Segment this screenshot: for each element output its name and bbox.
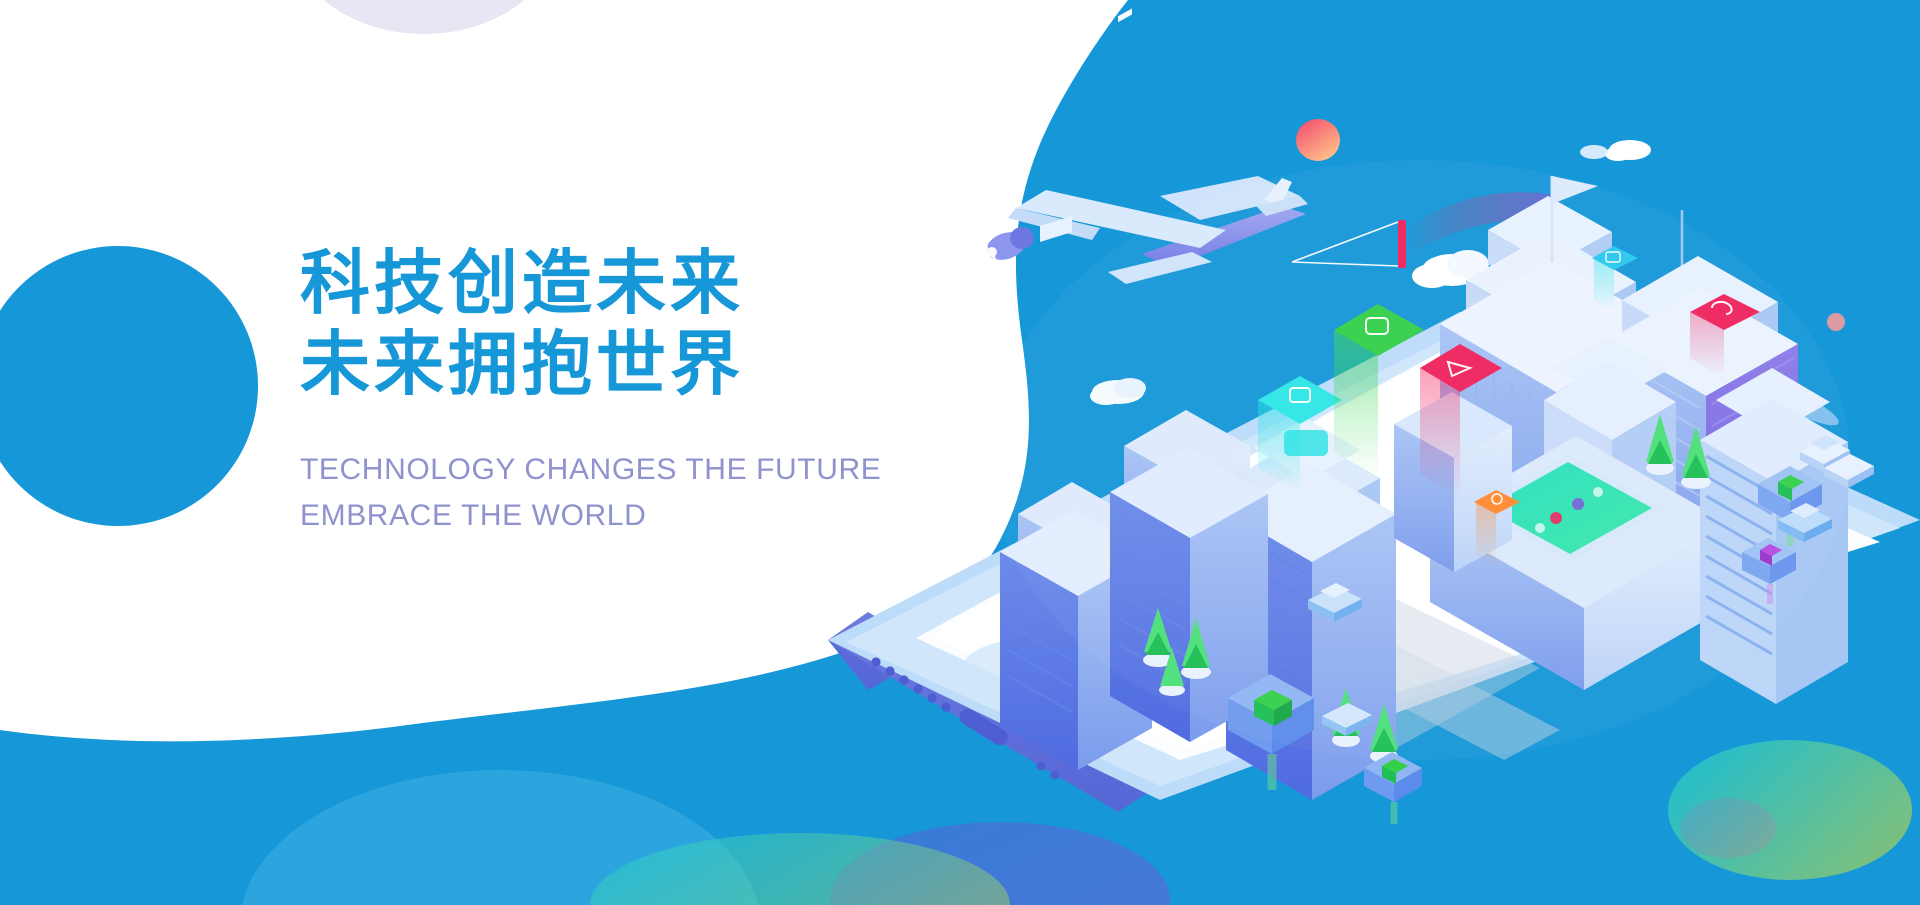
hero-copy: 科技创造未来 未来拥抱世界 TECHNOLOGY CHANGES THE FUT… [300,243,860,539]
cloud-top-right [1605,140,1651,161]
subtitle-line-2: EMBRACE THE WORLD [300,493,860,539]
plane-propeller [944,226,1002,280]
isometric-city-illustration [0,0,1920,905]
hero-subtitle: TECHNOLOGY CHANGES THE FUTURE EMBRACE TH… [300,447,860,538]
plane-engine [983,216,1072,265]
hero-banner: 科技创造未来 未来拥抱世界 TECHNOLOGY CHANGES THE FUT… [0,0,1920,905]
small-pink-dot [1827,313,1845,331]
balloon-sphere [1296,119,1340,161]
subtitle-line-1: TECHNOLOGY CHANGES THE FUTURE [300,447,860,493]
page-title: 科技创造未来 未来拥抱世界 [300,243,860,405]
headline-line-1: 科技创造未来 [300,243,860,324]
city-glow [990,160,1850,760]
headline-line-2: 未来拥抱世界 [300,324,860,405]
cloud-small-right [1580,145,1608,159]
